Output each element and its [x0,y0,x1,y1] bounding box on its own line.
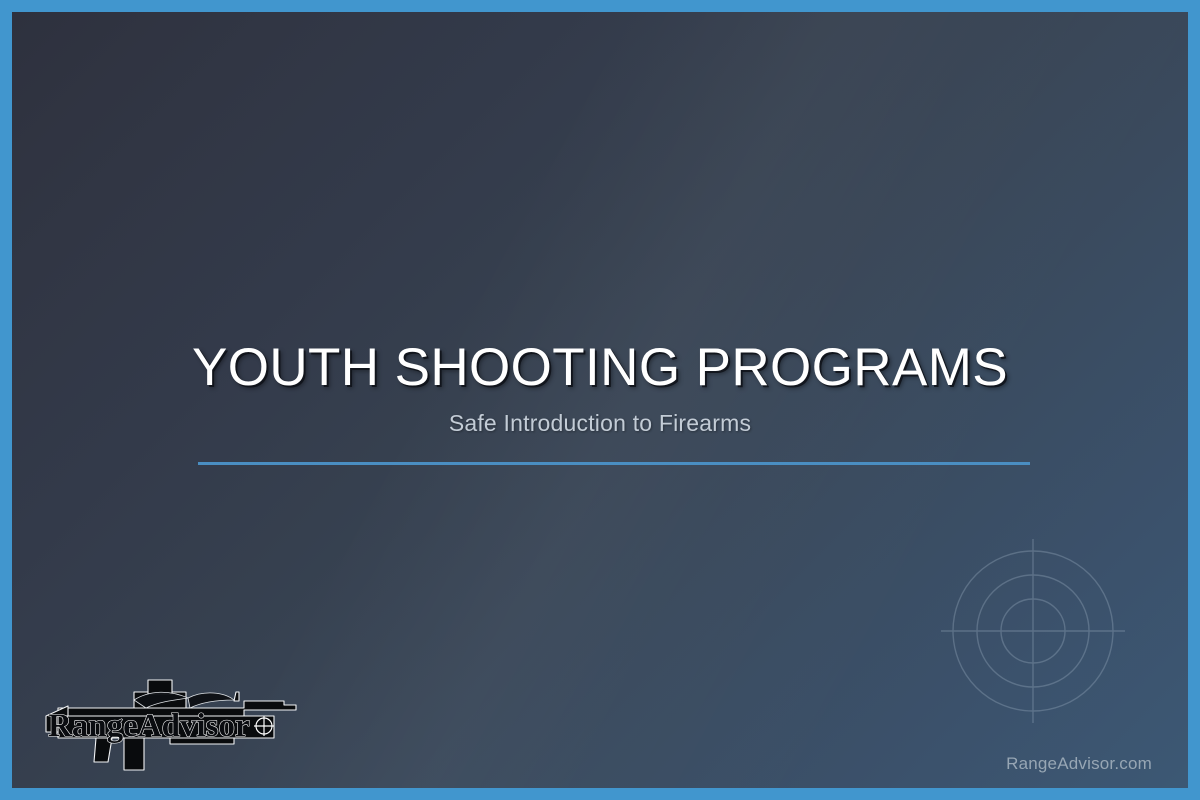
slide-title: YOUTH SHOOTING PROGRAMS [12,340,1188,396]
target-crosshair-icon [933,531,1133,731]
title-block: YOUTH SHOOTING PROGRAMS Safe Introductio… [12,340,1188,437]
rangeadvisor-logo: RangeAdvisor [38,670,318,780]
slide-canvas: YOUTH SHOOTING PROGRAMS Safe Introductio… [12,12,1188,788]
footer-url: RangeAdvisor.com [1006,754,1152,774]
slide-subtitle: Safe Introduction to Firearms [12,410,1188,437]
title-divider-rule [198,462,1030,465]
presentation-slide: YOUTH SHOOTING PROGRAMS Safe Introductio… [0,0,1200,800]
logo-wordmark: RangeAdvisor [48,708,250,744]
